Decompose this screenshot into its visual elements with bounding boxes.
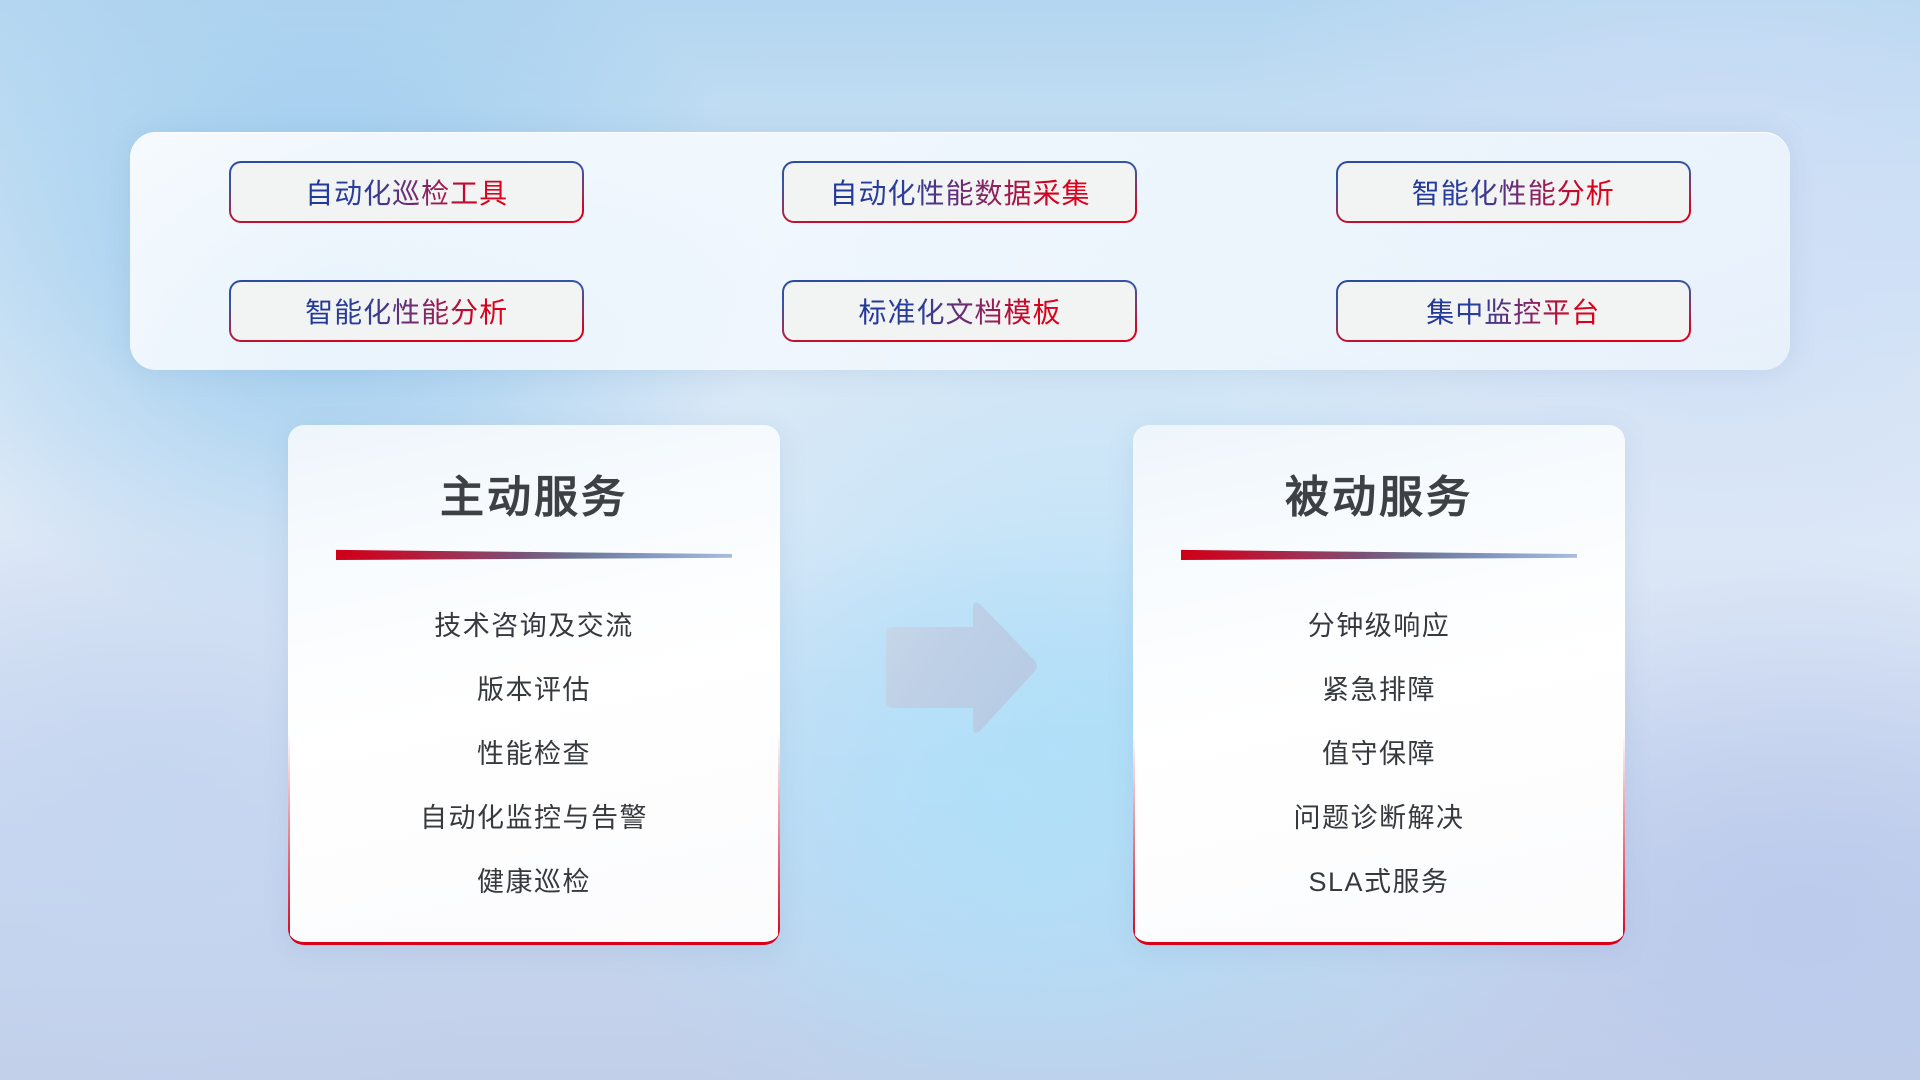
card-item-list: 分钟级响应 紧急排障 值守保障 问题诊断解决 SLA式服务 (1133, 560, 1625, 899)
card-title: 主动服务 (288, 425, 780, 525)
capability-pill-label: 标准化文档模板 (858, 291, 1061, 331)
card-left-accent-edge (288, 732, 290, 942)
card-item: 版本评估 (477, 668, 591, 707)
card-left-accent-edge (1133, 732, 1135, 942)
card-item: 紧急排障 (1322, 668, 1436, 707)
capability-pill[interactable]: 智能化性能分析 (1336, 161, 1691, 223)
capability-pill[interactable]: 智能化性能分析 (229, 280, 584, 342)
card-item: 值守保障 (1322, 732, 1436, 771)
card-title: 被动服务 (1133, 425, 1625, 525)
capability-pill-label: 集中监控平台 (1426, 291, 1600, 331)
capability-pill[interactable]: 集中监控平台 (1336, 280, 1691, 342)
card-right-accent-edge (1623, 732, 1625, 942)
card-item-list: 技术咨询及交流 版本评估 性能检查 自动化监控与告警 健康巡检 (288, 560, 780, 899)
card-item: 分钟级响应 (1308, 604, 1451, 643)
card-item: 技术咨询及交流 (434, 604, 634, 643)
card-item: 问题诊断解决 (1294, 796, 1465, 835)
card-item: 自动化监控与告警 (420, 796, 648, 835)
card-item: 性能检查 (477, 732, 591, 771)
card-divider-bar (336, 549, 732, 560)
right-arrow-icon (880, 598, 1040, 743)
capability-panel: 自动化巡检工具 自动化性能数据采集 智能化性能分析 智能化性能分析 标准化文档模… (130, 132, 1790, 370)
capability-pill-label: 自动化性能数据采集 (829, 172, 1090, 212)
service-card-active: 主动服务 技术咨询及交流 版本评估 性能检查 自动化监控与告警 健康巡检 (288, 425, 780, 945)
capability-pill-label: 智能化性能分析 (1412, 172, 1615, 212)
capability-pill-label: 智能化性能分析 (305, 291, 508, 331)
card-divider-bar (1181, 549, 1577, 560)
card-right-accent-edge (778, 732, 780, 942)
capability-pill[interactable]: 自动化性能数据采集 (782, 161, 1137, 223)
capability-pill[interactable]: 标准化文档模板 (782, 280, 1137, 342)
card-item: 健康巡检 (477, 860, 591, 899)
capability-pill-grid: 自动化巡检工具 自动化性能数据采集 智能化性能分析 智能化性能分析 标准化文档模… (130, 132, 1790, 370)
service-card-passive: 被动服务 分钟级响应 紧急排障 值守保障 问题诊断解决 SLA式服务 (1133, 425, 1625, 945)
capability-pill[interactable]: 自动化巡检工具 (229, 161, 584, 223)
card-divider (336, 549, 732, 560)
card-divider (1181, 549, 1577, 560)
card-item: SLA式服务 (1308, 860, 1449, 899)
capability-pill-label: 自动化巡检工具 (305, 172, 508, 212)
